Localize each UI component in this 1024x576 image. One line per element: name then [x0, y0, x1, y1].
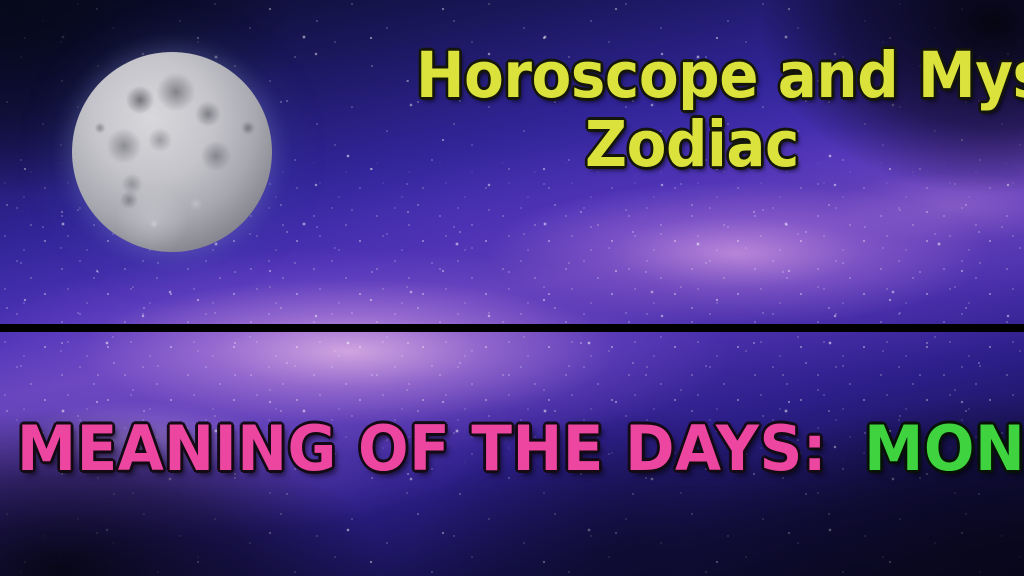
headline-prefix: MEANING OF THE DAYS:: [17, 418, 827, 480]
thumbnail-canvas: Horoscope and Mystic Zodiac MEANING OF T…: [0, 0, 1024, 576]
full-moon-icon: [72, 52, 272, 252]
title-line-2: Zodiac: [416, 115, 968, 175]
title-block: Horoscope and Mystic Zodiac: [392, 46, 992, 175]
horizontal-divider: [0, 324, 1024, 332]
headline-block: MEANING OF THE DAYS:MONDAY: [0, 418, 1024, 480]
headline-day: MONDAY: [864, 418, 1024, 480]
title-line-1: Horoscope and Mystic: [416, 46, 968, 106]
